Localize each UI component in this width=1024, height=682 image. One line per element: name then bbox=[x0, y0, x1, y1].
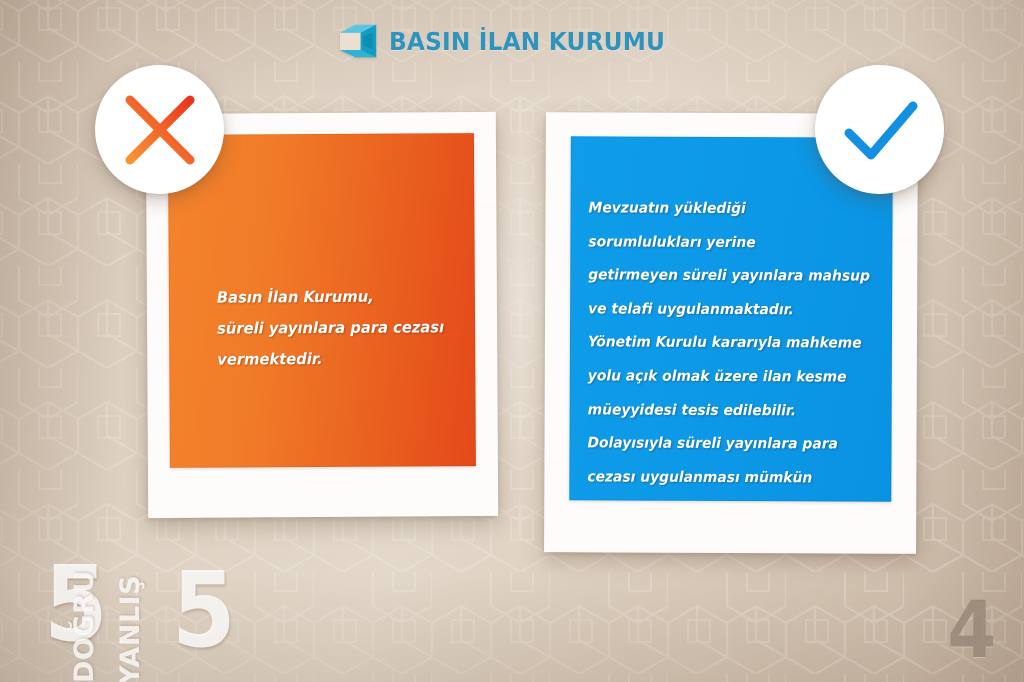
correct-line: müeyyidesi tesis edilebilir. bbox=[588, 393, 870, 428]
page-number: 4 bbox=[947, 592, 996, 670]
correct-badge bbox=[815, 65, 944, 194]
correct-line: Yönetim Kurulu kararıyla mahkeme bbox=[588, 326, 870, 361]
brand-header: BASIN İLAN KURUMU bbox=[0, 22, 1024, 60]
brand-title: BASIN İLAN KURUMU bbox=[389, 27, 665, 56]
correct-line: ve telafi uygulanmaktadır. bbox=[588, 292, 870, 327]
wrong-badge bbox=[95, 65, 224, 194]
series-count-right: 5 bbox=[172, 558, 236, 662]
wrong-statement-panel: Basın İlan Kurumu, süreli yayınlara para… bbox=[168, 133, 476, 468]
correct-statement-text: Mevzuatın yüklediği sorumlulukları yerin… bbox=[587, 191, 870, 501]
series-count-left: 5 bbox=[44, 552, 108, 656]
wrong-statement-text: Basın İlan Kurumu, süreli yayınlara para… bbox=[217, 281, 445, 375]
correct-line: yolu açık olmak üzere ilan kesme bbox=[588, 359, 870, 394]
correct-line: sorumlulukları yerine bbox=[588, 225, 870, 260]
series-word-yanlis: YANLIŞ bbox=[117, 575, 144, 682]
series-watermark: 5 5 DOĞRU YANLIŞ bbox=[44, 548, 234, 660]
check-icon bbox=[835, 85, 925, 175]
correct-line: cezası uygulanması mümkün bbox=[587, 460, 869, 495]
correct-line: Dolayısıyla süreli yayınlara para bbox=[587, 427, 869, 462]
cube-logo-icon bbox=[338, 22, 378, 60]
wrong-line: vermektedir. bbox=[217, 343, 444, 375]
correct-line: Mevzuatın yüklediği bbox=[588, 191, 870, 226]
wrong-line: Basın İlan Kurumu, bbox=[217, 281, 444, 313]
correct-statement-panel: Mevzuatın yüklediği sorumlulukları yerin… bbox=[569, 136, 893, 501]
slide-canvas: BASIN İLAN KURUMU Basın İlan Kurumu, sür… bbox=[0, 0, 1024, 682]
wrong-line: süreli yayınlara para cezası bbox=[217, 312, 444, 344]
series-word-dogru: DOĞRU bbox=[71, 570, 98, 682]
correct-line: değildir. bbox=[587, 494, 869, 502]
correct-line: getirmeyen süreli yayınlara mahsup bbox=[588, 259, 870, 294]
cross-icon bbox=[117, 87, 203, 173]
